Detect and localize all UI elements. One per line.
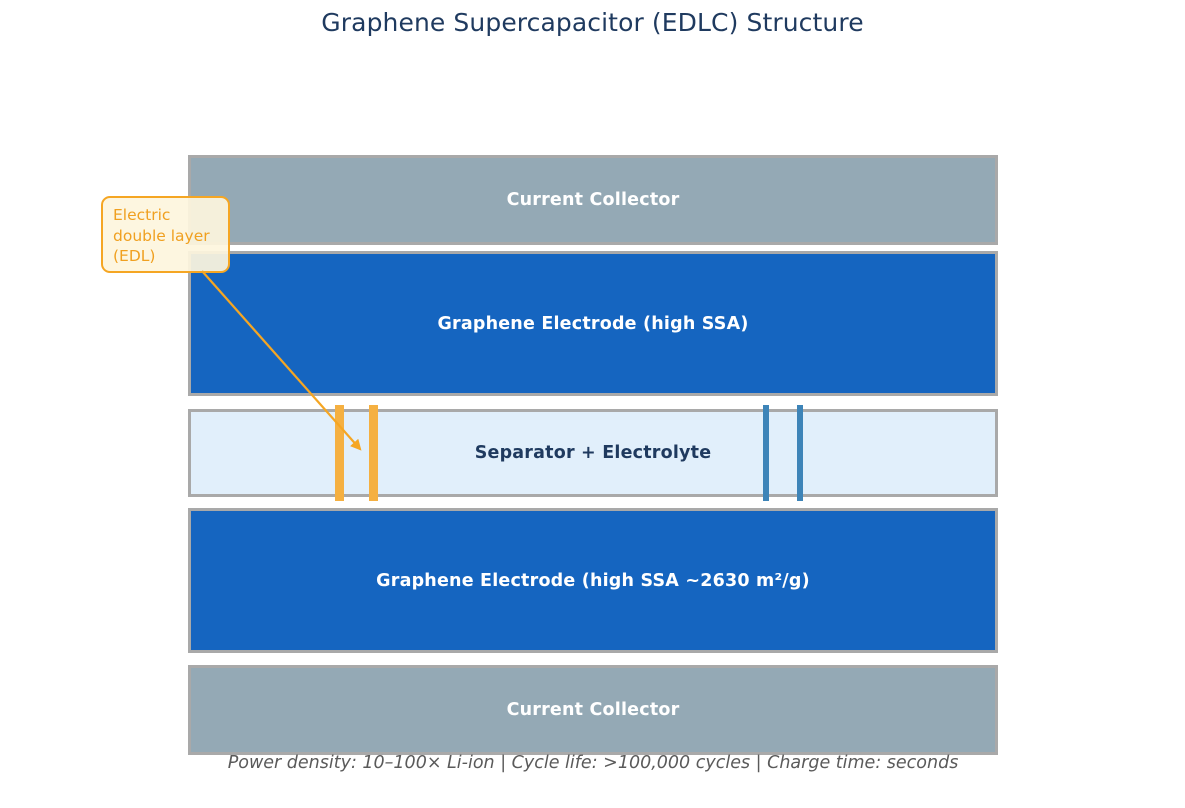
page-title: Graphene Supercapacitor (EDLC) Structure xyxy=(0,8,1185,37)
layer-current-collector-top: Current Collector xyxy=(188,155,998,245)
callout-electric-double-layer: Electric double layer (EDL) xyxy=(101,196,230,273)
ion-anion-marker xyxy=(797,405,803,501)
layer-label: Current Collector xyxy=(507,190,680,210)
layer-graphene-electrode-bottom: Graphene Electrode (high SSA ~2630 m²/g) xyxy=(188,508,998,653)
footer-note: Power density: 10–100× Li-ion | Cycle li… xyxy=(188,753,998,773)
diagram-canvas: Graphene Supercapacitor (EDLC) Structure… xyxy=(0,0,1185,808)
layer-label: Graphene Electrode (high SSA) xyxy=(437,314,748,334)
layer-current-collector-bottom: Current Collector xyxy=(188,665,998,755)
ion-cation-marker xyxy=(335,405,344,501)
layer-label: Current Collector xyxy=(507,700,680,720)
layer-label: Separator + Electrolyte xyxy=(475,443,712,463)
layer-separator-electrolyte: Separator + Electrolyte xyxy=(188,409,998,497)
layer-label: Graphene Electrode (high SSA ~2630 m²/g) xyxy=(376,571,810,591)
ion-cation-marker xyxy=(369,405,378,501)
ion-anion-marker xyxy=(763,405,769,501)
layer-graphene-electrode-top: Graphene Electrode (high SSA) xyxy=(188,251,998,396)
